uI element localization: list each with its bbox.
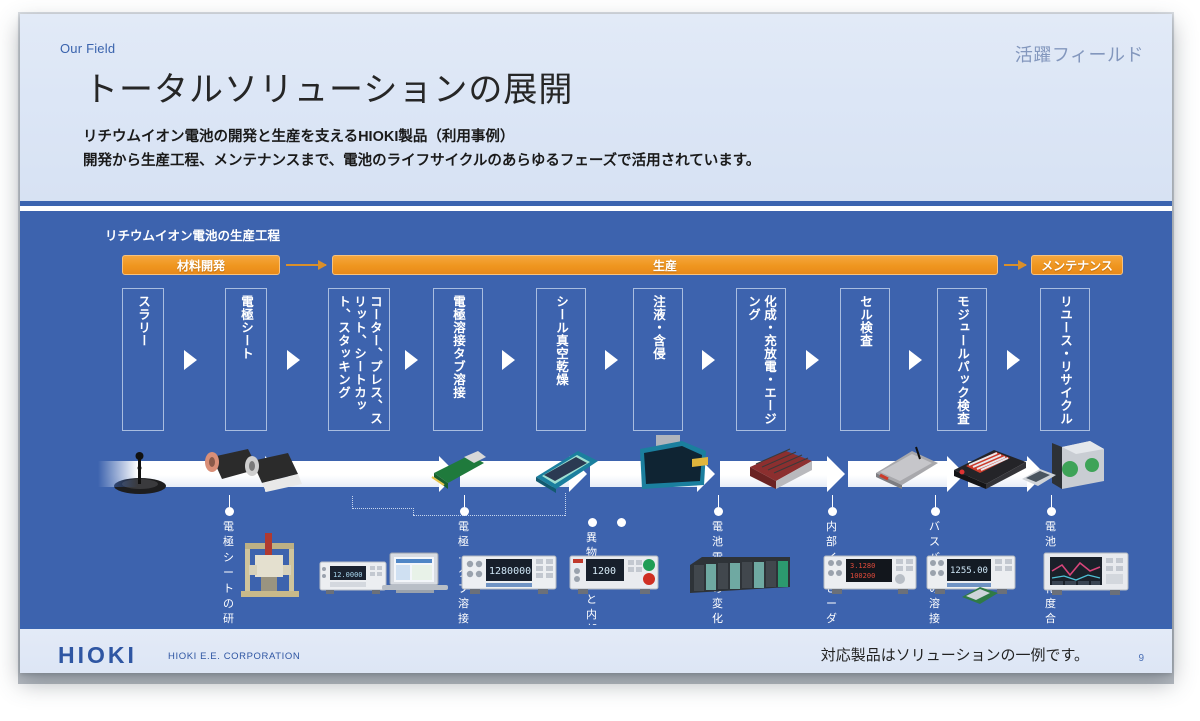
step-caret-icon xyxy=(605,350,618,370)
lead-line-1: リチウムイオン電池の開発と生産を支えるHIOKI製品（利用事例） xyxy=(83,126,760,150)
recycle-bin-icon xyxy=(1050,437,1108,495)
process-step-box: シール真空乾燥 xyxy=(536,288,586,431)
callout-stem xyxy=(464,495,465,507)
instrument-laptop xyxy=(382,551,448,597)
svg-text:100200: 100200 xyxy=(850,572,875,580)
process-step-label: モジュールパック検査 xyxy=(954,295,970,425)
instrument-bench-meter-1: 1280000 xyxy=(460,554,558,596)
instrument-lcr-meter: 12.0000 xyxy=(318,560,388,596)
instrument-battery-analyzer xyxy=(1042,551,1130,597)
process-step-box: 電極溶接タブ溶接 xyxy=(433,288,483,431)
band-segment xyxy=(288,461,440,487)
process-step-label: セル検査 xyxy=(857,295,873,347)
process-step-box: セル検査 xyxy=(840,288,890,431)
conveyor-band xyxy=(20,451,1172,496)
page-title: トータルソリューションの展開 xyxy=(84,62,573,111)
phase-arrow-2-icon xyxy=(1004,264,1026,266)
hioki-logo: HIOKI xyxy=(58,642,137,669)
callout-dot-icon xyxy=(588,518,597,527)
process-step-box: 注液・含侵 xyxy=(633,288,683,431)
process-step-label: 電極シート xyxy=(238,295,254,360)
callout-dot-icon xyxy=(1047,507,1056,516)
callout-stem xyxy=(229,495,230,507)
callout-dot-icon xyxy=(714,507,723,516)
instrument-test-fixture xyxy=(235,529,305,601)
hioki-logo-subtitle: HIOKI E.E. CORPORATION xyxy=(168,651,300,662)
lead-text: リチウムイオン電池の開発と生産を支えるHIOKI製品（利用事例） 開発から生産工… xyxy=(83,126,760,174)
cell-inspection-tray-icon xyxy=(872,443,944,493)
process-step-label: 化成・充放電・エージング xyxy=(745,295,777,427)
pouch-cell-icon xyxy=(532,447,602,495)
footer-note: 対応製品はソリューションの一例です。 xyxy=(821,644,1089,665)
svg-text:1255.00: 1255.00 xyxy=(950,566,988,576)
process-step-label: スラリー xyxy=(135,295,151,347)
step-caret-icon xyxy=(909,350,922,370)
phase-arrow-1-icon xyxy=(286,264,326,266)
step-caret-icon xyxy=(184,350,197,370)
process-step-label: コーター、プレス、スリット、シートカット、スタッキング xyxy=(335,295,383,427)
callout-dot-icon xyxy=(931,507,940,516)
process-step-box: モジュールパック検査 xyxy=(937,288,987,431)
process-step-label: リユース・リサイクル xyxy=(1057,295,1073,425)
step-caret-icon xyxy=(1007,350,1020,370)
callout-dot-icon xyxy=(617,518,626,527)
phase-bar-maintenance: メンテナンス xyxy=(1031,255,1123,275)
callout-dot-icon xyxy=(460,507,469,516)
page-number: 9 xyxy=(1138,653,1144,664)
process-step-box: コーター、プレス、スリット、シートカット、スタッキング xyxy=(328,288,390,431)
lead-line-2: 開発から生産工程、メンテナンスまで、電池のライフサイクルのあらゆるフェーズで活用… xyxy=(83,150,760,174)
electrolyte-cell-icon xyxy=(632,435,712,497)
instrument-data-logger-rack xyxy=(688,553,792,597)
cell-stack-icon xyxy=(744,445,816,495)
step-caret-icon xyxy=(405,350,418,370)
process-step-box: 化成・充放電・エージング xyxy=(736,288,786,431)
process-step-label: シール真空乾燥 xyxy=(553,295,569,386)
leader-line xyxy=(352,496,353,509)
callout-stem xyxy=(832,495,833,507)
phase-bar-production: 生産 xyxy=(332,255,998,275)
electrode-sheet-roll-icon xyxy=(196,447,306,497)
callout-stem xyxy=(718,495,719,507)
slide: Our Field 活躍フィールド トータルソリューションの展開 リチウムイオン… xyxy=(20,14,1172,673)
svg-text:3.1280: 3.1280 xyxy=(850,562,875,570)
module-pack-icon xyxy=(950,444,1030,492)
band-fade-overlay xyxy=(98,461,138,487)
process-step-box: リユース・リサイクル xyxy=(1040,288,1090,431)
welded-electrode-icon xyxy=(430,451,488,493)
leader-line xyxy=(565,493,566,516)
eyebrow-label: Our Field xyxy=(60,41,115,56)
step-caret-icon xyxy=(287,350,300,370)
svg-text:1280000: 1280000 xyxy=(489,566,531,577)
process-step-box: スラリー xyxy=(122,288,164,431)
slide-header: Our Field 活躍フィールド トータルソリューションの展開 リチウムイオン… xyxy=(20,14,1172,206)
eyebrow-label-right: 活躍フィールド xyxy=(1015,41,1144,67)
instrument-insulation-tester: 1200 xyxy=(568,554,660,596)
callout-dot-icon xyxy=(828,507,837,516)
process-step-label: 電極溶接タブ溶接 xyxy=(450,295,466,399)
callout-stem xyxy=(935,495,936,507)
leader-line xyxy=(413,508,414,515)
leader-line xyxy=(413,515,565,516)
svg-text:1200: 1200 xyxy=(592,566,616,577)
used-cells-icon xyxy=(1020,465,1058,491)
slide-footer: HIOKI HIOKI E.E. CORPORATION 対応製品はソリューショ… xyxy=(20,625,1172,673)
step-caret-icon xyxy=(702,350,715,370)
phase-bar-material-development: 材料開発 xyxy=(122,255,280,275)
process-step-box: 電極シート xyxy=(225,288,267,431)
leader-line xyxy=(352,508,414,509)
step-caret-icon xyxy=(502,350,515,370)
step-caret-icon xyxy=(806,350,819,370)
panel-heading: リチウムイオン電池の生産工程 xyxy=(105,225,280,244)
instrument-probe-board xyxy=(960,585,1000,607)
process-step-label: 注液・含侵 xyxy=(650,295,666,360)
instrument-impedance-meter: 3.1280 100200 xyxy=(822,554,918,596)
process-step-list: スラリー 電極シート コーター、プレス、スリット、シートカット、スタッキング 電… xyxy=(20,288,1172,438)
svg-text:12.0000: 12.0000 xyxy=(333,571,363,579)
callout-dot-icon xyxy=(225,507,234,516)
process-diagram-panel: リチウムイオン電池の生産工程 材料開発 生産 メンテナンス スラリー 電極シート… xyxy=(20,211,1172,625)
callout-stem xyxy=(1051,495,1052,507)
